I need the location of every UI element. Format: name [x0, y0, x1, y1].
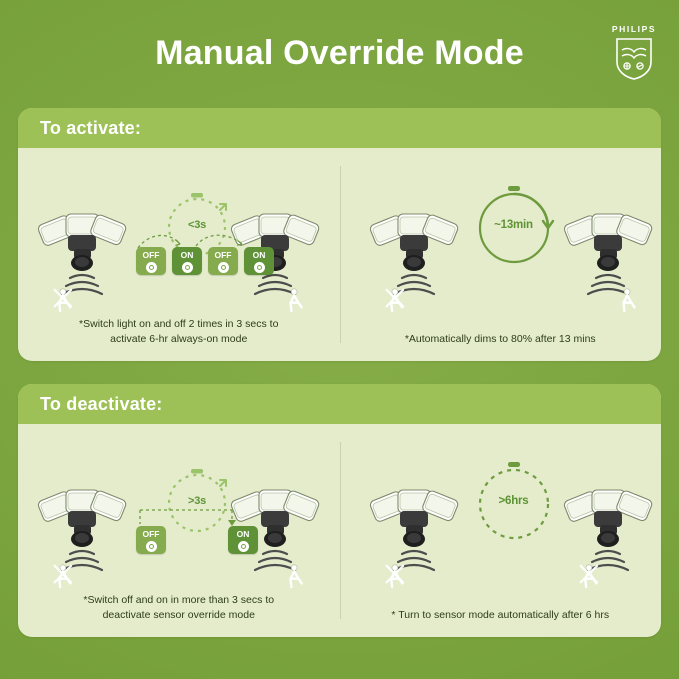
switch-chip-label: OFF	[215, 250, 232, 260]
activate-right-caption: *Automatically dims to 80% after 13 mins	[340, 332, 662, 347]
caption-line-1: *Switch light on and off 2 times in 3 se…	[42, 317, 316, 332]
security-light-icon	[223, 204, 327, 324]
timer-6hrs: >6hrs	[462, 456, 566, 546]
activate-left-caption: *Switch light on and off 2 times in 3 se…	[18, 317, 340, 347]
switch-knob-icon	[254, 262, 265, 273]
motion-person-icon	[291, 289, 302, 311]
activate-right: ~13min	[340, 148, 662, 361]
security-light-icon	[30, 204, 134, 324]
caption-line-1: * Turn to sensor mode automatically afte…	[364, 608, 638, 623]
section-deactivate: To deactivate:	[18, 384, 661, 637]
section-activate-title: To activate:	[40, 118, 141, 139]
switch-chip-off[interactable]: OFF	[136, 526, 166, 554]
motion-person-icon	[623, 289, 634, 311]
caption-line-2: deactivate sensor override mode	[42, 608, 316, 623]
switch-chip-off[interactable]: OFF	[208, 247, 238, 275]
section-deactivate-header: To deactivate:	[18, 384, 661, 424]
timer-13min: ~13min	[462, 180, 566, 270]
timer-6hrs-label: >6hrs	[462, 456, 566, 546]
switch-chip-on[interactable]: ON	[228, 526, 258, 554]
security-light-icon	[556, 204, 660, 324]
section-activate-body: <3s	[18, 148, 661, 361]
section-activate: To activate:	[18, 108, 661, 361]
deactivate-left: >3s	[18, 424, 340, 637]
switch-chip-on[interactable]: ON	[244, 247, 274, 275]
caption-line-1: *Switch off and on in more than 3 secs t…	[42, 593, 316, 608]
activate-left-scene: <3s	[18, 154, 340, 294]
switch-knob-icon	[218, 262, 229, 273]
switch-chip-off[interactable]: OFF	[136, 247, 166, 275]
switch-chip-on[interactable]: ON	[172, 247, 202, 275]
brand-name: PHILIPS	[612, 24, 656, 34]
section-deactivate-body: >3s	[18, 424, 661, 637]
caption-line-2: activate 6-hr always-on mode	[42, 332, 316, 347]
switch-chip-label: ON	[237, 529, 250, 539]
activate-right-scene: ~13min	[340, 154, 662, 294]
page-title: Manual Override Mode	[0, 34, 679, 73]
security-light-icon	[556, 480, 660, 600]
security-light-icon	[362, 480, 466, 600]
no-motion-icon	[55, 565, 72, 587]
switch-knob-icon	[182, 262, 193, 273]
motion-person-icon	[291, 565, 302, 587]
section-activate-header: To activate:	[18, 108, 661, 148]
deactivate-right: >6hrs	[340, 424, 662, 637]
switch-knob-icon	[146, 541, 157, 552]
deactivate-left-scene: >3s	[18, 430, 340, 570]
switch-knob-icon	[146, 262, 157, 273]
caption-line-1: *Automatically dims to 80% after 13 mins	[364, 332, 638, 347]
no-motion-icon	[386, 565, 403, 587]
deactivate-right-scene: >6hrs	[340, 430, 662, 570]
infographic-page: PHILIPS Manual Override Mode To activate…	[0, 0, 679, 679]
deactivate-right-caption: * Turn to sensor mode automatically afte…	[340, 608, 662, 623]
no-motion-icon	[386, 289, 403, 311]
activate-left: <3s	[18, 148, 340, 361]
switch-knob-icon	[238, 541, 249, 552]
switch-chip-label: ON	[253, 250, 266, 260]
no-motion-icon	[580, 565, 597, 587]
security-light-icon	[362, 204, 466, 324]
security-light-icon	[30, 480, 134, 600]
section-deactivate-title: To deactivate:	[40, 394, 163, 415]
no-motion-icon	[55, 289, 72, 311]
switch-chip-label: OFF	[143, 529, 160, 539]
switch-chip-label: OFF	[143, 250, 160, 260]
deactivate-left-caption: *Switch off and on in more than 3 secs t…	[18, 593, 340, 623]
timer-13min-label: ~13min	[462, 180, 566, 270]
switch-chip-label: ON	[181, 250, 194, 260]
